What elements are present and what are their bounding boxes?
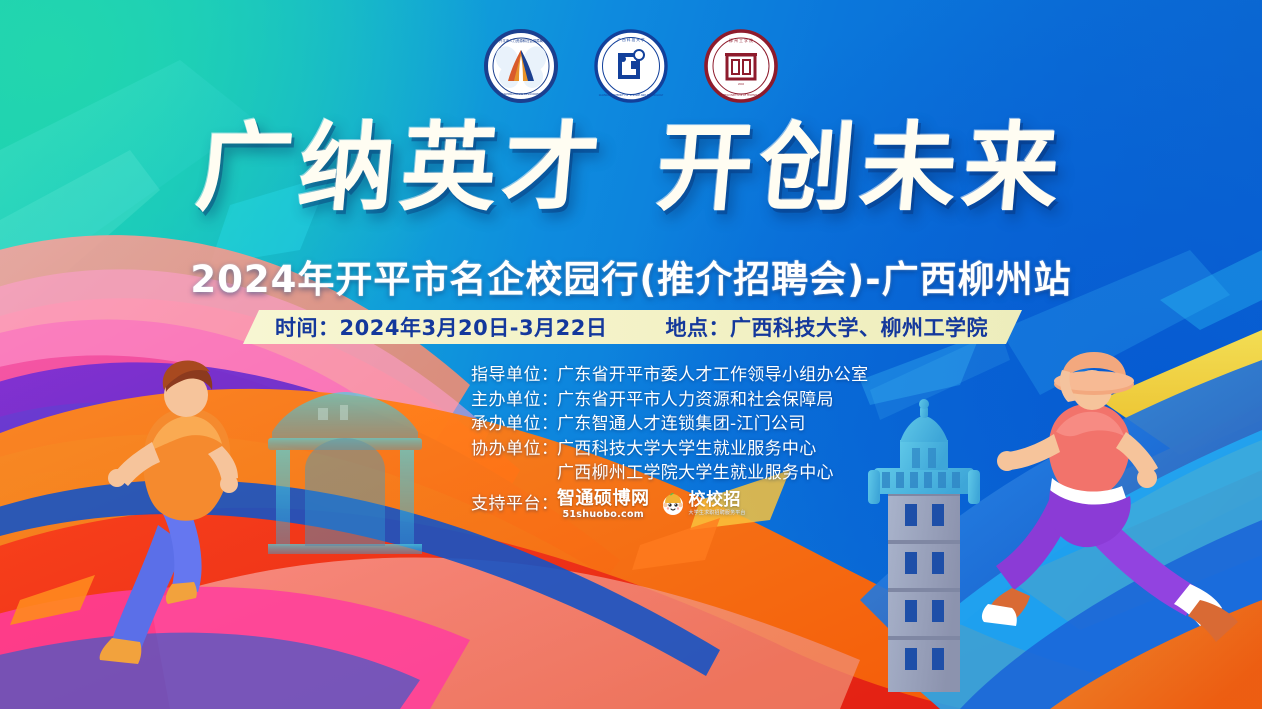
xiaoxiaozhao-name: 校校招 [689,492,746,509]
organizer-value: 广西科技大学大学生就业服务中心 [557,437,817,462]
organizer-label [445,461,541,486]
time-place-banner: 时间：2024年3月20日-3月22日 地点：广西科技大学、柳州工学院 [243,310,1022,344]
support-platform-row: 支持平台 ： 智通硕博网 51shuobo.com [445,490,817,520]
time-entry: 时间：2024年3月20日-3月22日 [275,312,607,342]
kaiping-talent-emblem-icon: 开平市人力资源和社会保障局 KAIPING HUMAN RESOURCES [484,29,558,103]
svg-text:2002: 2002 [738,83,745,86]
time-value: 2024年3月20日-3月22日 [340,316,608,340]
organizer-value: 广东省开平市人力资源和社会保障局 [557,388,834,413]
support-platform-logos: 智通硕博网 51shuobo.com [557,490,746,520]
place-value: 广西科技大学、柳州工学院 [730,316,988,340]
organizer-row: 协办单位 ： 广西科技大学大学生就业服务中心 [445,437,817,462]
organizer-label: 承办单位 [445,412,541,437]
svg-text:开平市人力资源和社会保障局: 开平市人力资源和社会保障局 [499,38,544,43]
time-label: 时间： [275,316,340,340]
support-label: 支持平台 [445,492,541,517]
organizer-label: 协办单位 [445,437,541,462]
logo-row: 开平市人力资源和社会保障局 KAIPING HUMAN RESOURCES 广 … [0,29,1262,103]
svg-text:广 西 科 技 大 学: 广 西 科 技 大 学 [617,37,645,42]
organizer-separator: ： [541,363,557,388]
organizer-row: 指导单位 ： 广东省开平市委人才工作领导小组办公室 [445,363,817,388]
recruitment-poster: 开平市人力资源和社会保障局 KAIPING HUMAN RESOURCES 广 … [0,0,1262,709]
xiaoxiaozhao-tagline: 大学生求职招聘服务平台 [689,511,746,516]
organizer-row: 承办单位 ： 广东智通人才连锁集团-江门公司 [445,412,817,437]
svg-text:LIUZHOU INSTITUTE OF TECHNOLOG: LIUZHOU INSTITUTE OF TECHNOLOGY [719,94,763,97]
organizer-label: 指导单位 [445,363,541,388]
organizer-list: 指导单位 ： 广东省开平市委人才工作领导小组办公室 主办单位 ： 广东省开平市人… [0,363,1262,519]
background-illustration [0,0,1262,709]
organizer-separator: ： [541,388,557,413]
guangxi-university-science-technology-emblem-icon: 广 西 科 技 大 学 GUANGXI UNIVERSITY OF SCIENC… [594,29,668,103]
organizer-separator: ： [541,412,557,437]
mascot-face-icon [661,492,685,516]
svg-text:柳 州 工 学 院: 柳 州 工 学 院 [729,38,753,43]
poster-headline: 广纳英才开创未来 [0,118,1262,219]
zhitong-shuobo-name: 智通硕博网 [557,490,650,508]
ribbon-streams [0,0,1262,709]
zhitong-shuobo-logo[interactable]: 智通硕博网 51shuobo.com [557,490,650,520]
headline-right: 开创未来 [652,111,1070,224]
organizer-value: 广东省开平市委人才工作领导小组办公室 [557,363,868,388]
organizer-value: 广西柳州工学院大学生就业服务中心 [557,461,834,486]
support-separator: ： [541,492,557,517]
svg-text:GUANGXI UNIVERSITY OF SCIENCE: GUANGXI UNIVERSITY OF SCIENCE AND TECHNO… [599,94,664,97]
place-label: 地点： [666,316,731,340]
xiaoxiaozhao-logo[interactable]: 校校招 大学生求职招聘服务平台 [661,492,746,516]
poster-subtitle: 2024年开平市名企校园行(推介招聘会)-广西柳州站 [0,249,1262,303]
place-entry: 地点：广西科技大学、柳州工学院 [666,312,989,342]
svg-text:KAIPING HUMAN RESOURCES: KAIPING HUMAN RESOURCES [502,92,540,96]
organizer-label: 主办单位 [445,388,541,413]
liuzhou-institute-technology-emblem-icon: 柳 州 工 学 院 2002 LIUZHOU INSTITUTE OF TECH… [704,29,778,103]
headline-left: 广纳英才 [192,111,610,224]
organizer-row: 主办单位 ： 广东省开平市人力资源和社会保障局 [445,388,817,413]
organizer-value: 广东智通人才连锁集团-江门公司 [557,412,817,437]
organizer-separator: ： [541,437,557,462]
organizer-row-continuation: 广西柳州工学院大学生就业服务中心 [445,461,817,486]
zhitong-shuobo-domain: 51shuobo.com [562,510,644,520]
organizer-separator [541,461,557,486]
